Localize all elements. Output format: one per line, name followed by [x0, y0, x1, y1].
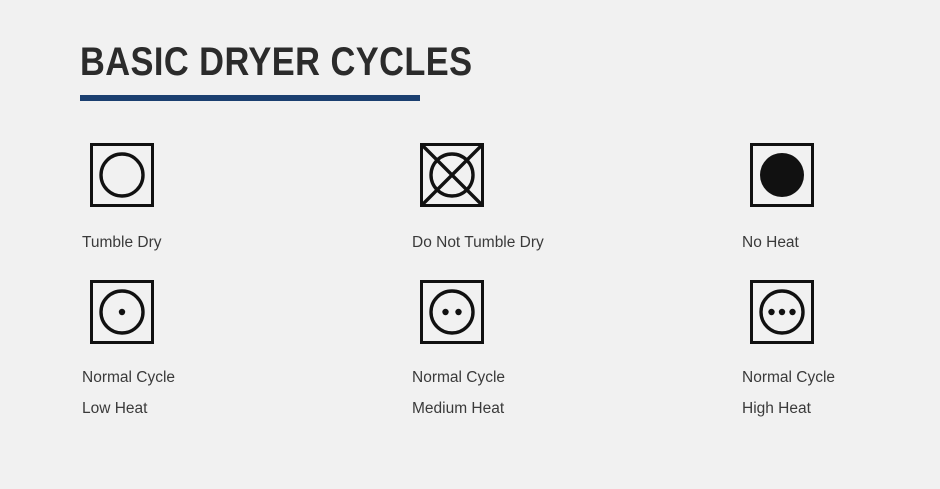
symbol-cell-normal-cycle-low-heat: Normal Cycle Low Heat	[80, 280, 410, 424]
no-heat-icon	[750, 143, 814, 207]
symbol-box	[750, 280, 814, 344]
symbol-cell-no-heat: No Heat	[740, 143, 930, 280]
symbol-box	[420, 143, 484, 207]
symbol-label: Do Not Tumble Dry	[412, 227, 740, 258]
tumble-dry-icon	[90, 143, 154, 207]
header: BASIC DRYER CYCLES	[80, 40, 536, 101]
symbol-cell-normal-cycle-high-heat: Normal Cycle High Heat	[740, 280, 930, 424]
symbol-box	[90, 143, 154, 207]
title-underline-rule	[80, 95, 420, 101]
symbol-label: No Heat	[742, 227, 930, 258]
do-not-tumble-dry-icon	[420, 143, 484, 207]
normal-cycle-medium-heat-icon	[420, 280, 484, 344]
symbol-box	[750, 143, 814, 207]
page-title: BASIC DRYER CYCLES	[80, 40, 473, 84]
symbol-label: Normal Cycle Medium Heat	[412, 362, 740, 424]
symbol-label: Tumble Dry	[82, 227, 410, 258]
symbol-cell-normal-cycle-medium-heat: Normal Cycle Medium Heat	[410, 280, 740, 424]
normal-cycle-low-heat-icon	[90, 280, 154, 344]
dryer-symbol-grid: Tumble Dry Do Not Tumble Dry No Heat	[80, 143, 880, 424]
symbol-label: Normal Cycle High Heat	[742, 362, 930, 424]
symbol-cell-tumble-dry: Tumble Dry	[80, 143, 410, 280]
symbol-cell-do-not-tumble-dry: Do Not Tumble Dry	[410, 143, 740, 280]
symbol-box	[420, 280, 484, 344]
symbol-box	[90, 280, 154, 344]
normal-cycle-high-heat-icon	[750, 280, 814, 344]
symbol-label: Normal Cycle Low Heat	[82, 362, 410, 424]
